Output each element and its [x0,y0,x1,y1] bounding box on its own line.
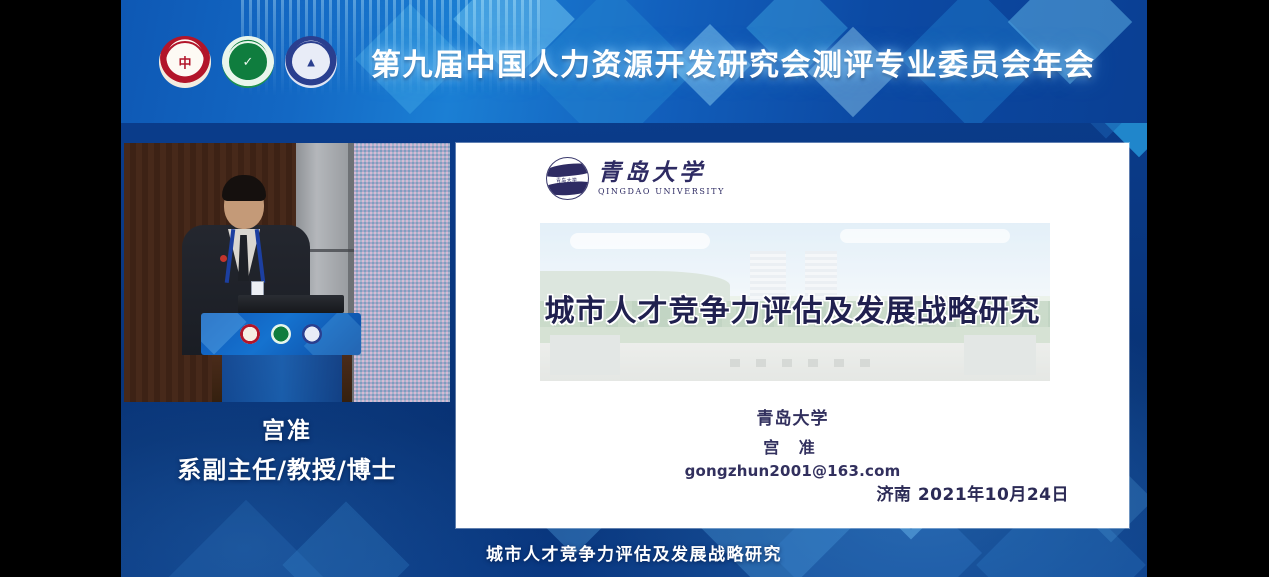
blue-committee-logo-icon: ▲ [285,36,337,88]
speaker-role: 系副主任/教授/博士 [177,450,397,485]
podium-logos [201,324,361,344]
podium-chrd-logo-icon [240,324,260,344]
blue-committee-logo-mark: ▲ [285,54,337,69]
photo-cloud [840,229,1010,243]
speaker-caption: 宫准 系副主任/教授/博士 [124,402,450,494]
university-name-cn: 青岛大学 [598,161,725,184]
photo-building-left [550,335,620,375]
speaker-name: 宫准 [262,411,312,445]
photo-plaza-markers [730,359,880,367]
letterbox-bar-left [0,0,121,577]
qingdao-university-logo: 青岛大学 青岛大学 QINGDAO UNIVERSITY [546,157,725,200]
photo-cloud [570,233,710,249]
conference-banner: 中 ✓ ▲ 第九届中国人力资源开发研究会测评专业委员会年会 [121,0,1147,123]
photo-building-right [964,335,1036,375]
slide-title: 城市人才竞争力评估及发展战略研究 [456,286,1129,330]
presenter-name: 宫 准 [456,434,1129,458]
podium-front-panel [201,313,361,355]
organizer-logos: 中 ✓ ▲ [159,36,337,88]
conference-title: 第九届中国人力资源开发研究会测评专业委员会年会 [371,40,1096,84]
green-association-logo-icon: ✓ [222,36,274,88]
photo-plaza [540,343,1050,381]
qingdao-university-logo-icon: 青岛大学 [546,157,589,200]
photo-sky [540,223,1050,296]
photo-lawn [540,327,1050,347]
presentation-slide[interactable]: 青岛大学 青岛大学 QINGDAO UNIVERSITY [456,143,1129,528]
speaker-video-feed[interactable] [124,143,450,402]
podium-laptop [238,295,344,313]
podium-base-panel [222,355,342,402]
logo-inner-text: 青岛大学 [556,177,577,184]
presenter-email: gongzhun2001@163.com [456,462,1129,480]
video-stream-stage: 中 ✓ ▲ 第九届中国人力资源开发研究会测评专业委员会年会 [0,0,1269,577]
podium-blue-logo-icon [302,324,322,344]
footer-title: 城市人才竞争力评估及发展战略研究 [121,528,1147,577]
letterbox-bar-right [1147,0,1269,577]
university-name-en: QINGDAO UNIVERSITY [598,188,725,196]
speaker-lapel-pin [220,255,227,262]
stage-led-screen [354,143,450,402]
chrd-logo-mark: 中 [159,52,211,71]
presenter-organization: 青岛大学 [456,404,1129,429]
slide-date-location: 济南 2021年10月24日 [876,480,1069,505]
chrd-logo-icon: 中 [159,36,211,88]
green-association-logo-mark: ✓ [222,54,274,70]
podium-green-logo-icon [271,324,291,344]
slide-byline: 青岛大学 宫 准 gongzhun2001@163.com [456,404,1129,480]
conference-backdrop: 中 ✓ ▲ 第九届中国人力资源开发研究会测评专业委员会年会 [121,0,1147,577]
